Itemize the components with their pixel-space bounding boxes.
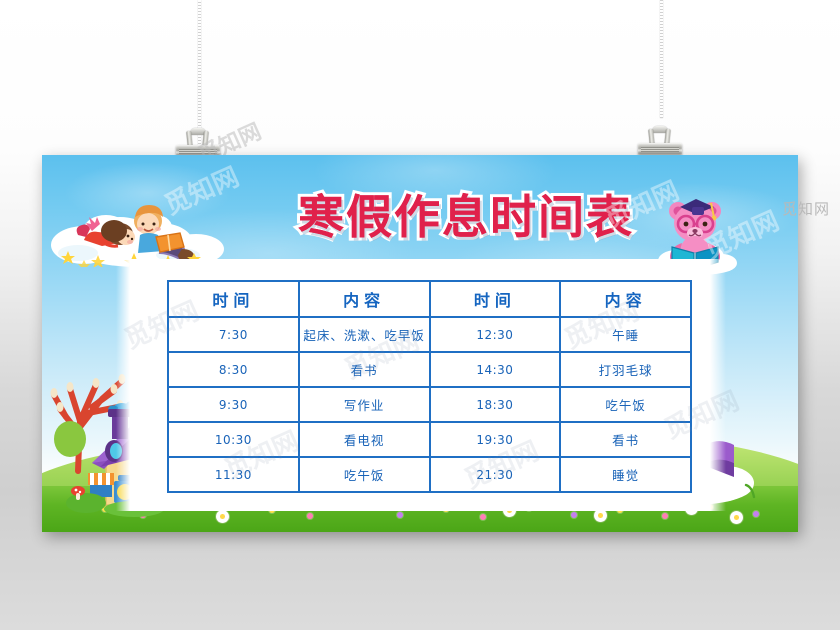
cell-time-morning: 8:30 xyxy=(168,352,299,387)
table-row: 10:30 看电视 19:30 看书 xyxy=(168,422,691,457)
header-cell-content-2: 内容 xyxy=(560,281,691,317)
brand-label: 觅知网 xyxy=(782,198,830,219)
binder-clip-right xyxy=(638,126,682,156)
kids-on-cloud-illustration xyxy=(48,183,236,267)
table-row: 7:30 起床、洗漱、吃早饭 12:30 午睡 xyxy=(168,317,691,352)
cell-time-afternoon: 21:30 xyxy=(430,457,561,492)
page-title-fill: 寒假作息时间表 xyxy=(298,181,634,247)
cell-activity-afternoon: 打羽毛球 xyxy=(560,352,691,387)
cell-activity-morning: 吃午饭 xyxy=(299,457,430,492)
cell-activity-morning: 写作业 xyxy=(299,387,430,422)
cell-time-afternoon: 12:30 xyxy=(430,317,561,352)
cell-activity-afternoon: 吃午饭 xyxy=(560,387,691,422)
table-row: 8:30 看书 14:30 打羽毛球 xyxy=(168,352,691,387)
header-cell-content-1: 内容 xyxy=(299,281,430,317)
kids-on-cloud xyxy=(48,183,236,267)
cell-time-afternoon: 18:30 xyxy=(430,387,561,422)
cell-time-afternoon: 14:30 xyxy=(430,352,561,387)
page-title: 寒假作息时间表 寒假作息时间表 xyxy=(256,183,676,245)
cell-activity-morning: 起床、洗漱、吃早饭 xyxy=(299,317,430,352)
poster-scene: 觅知网 xyxy=(0,0,840,630)
cell-time-morning: 10:30 xyxy=(168,422,299,457)
schedule-table-body: 时间 内容 时间 内容 7:30 起床、洗漱、吃早饭 12:30 午睡 8:30… xyxy=(168,281,691,492)
header-cell-time-2: 时间 xyxy=(430,281,561,317)
cell-time-afternoon: 19:30 xyxy=(430,422,561,457)
cell-activity-afternoon: 看书 xyxy=(560,422,691,457)
hanging-rope-right xyxy=(660,0,663,118)
table-row: 9:30 写作业 18:30 吃午饭 xyxy=(168,387,691,422)
table-row: 11:30 吃午饭 21:30 睡觉 xyxy=(168,457,691,492)
cell-activity-morning: 看书 xyxy=(299,352,430,387)
poster-board: 寒假作息时间表 寒假作息时间表 时间 内容 时间 内容 7:30 起床、洗漱、吃… xyxy=(42,155,798,532)
cell-activity-morning: 看电视 xyxy=(299,422,430,457)
cell-time-morning: 9:30 xyxy=(168,387,299,422)
header-cell-time-1: 时间 xyxy=(168,281,299,317)
cell-time-morning: 11:30 xyxy=(168,457,299,492)
table-header-row: 时间 内容 时间 内容 xyxy=(168,281,691,317)
cell-activity-afternoon: 睡觉 xyxy=(560,457,691,492)
cell-time-morning: 7:30 xyxy=(168,317,299,352)
cell-activity-afternoon: 午睡 xyxy=(560,317,691,352)
binder-clip-left xyxy=(176,128,220,158)
schedule-table: 时间 内容 时间 内容 7:30 起床、洗漱、吃早饭 12:30 午睡 8:30… xyxy=(167,280,692,493)
